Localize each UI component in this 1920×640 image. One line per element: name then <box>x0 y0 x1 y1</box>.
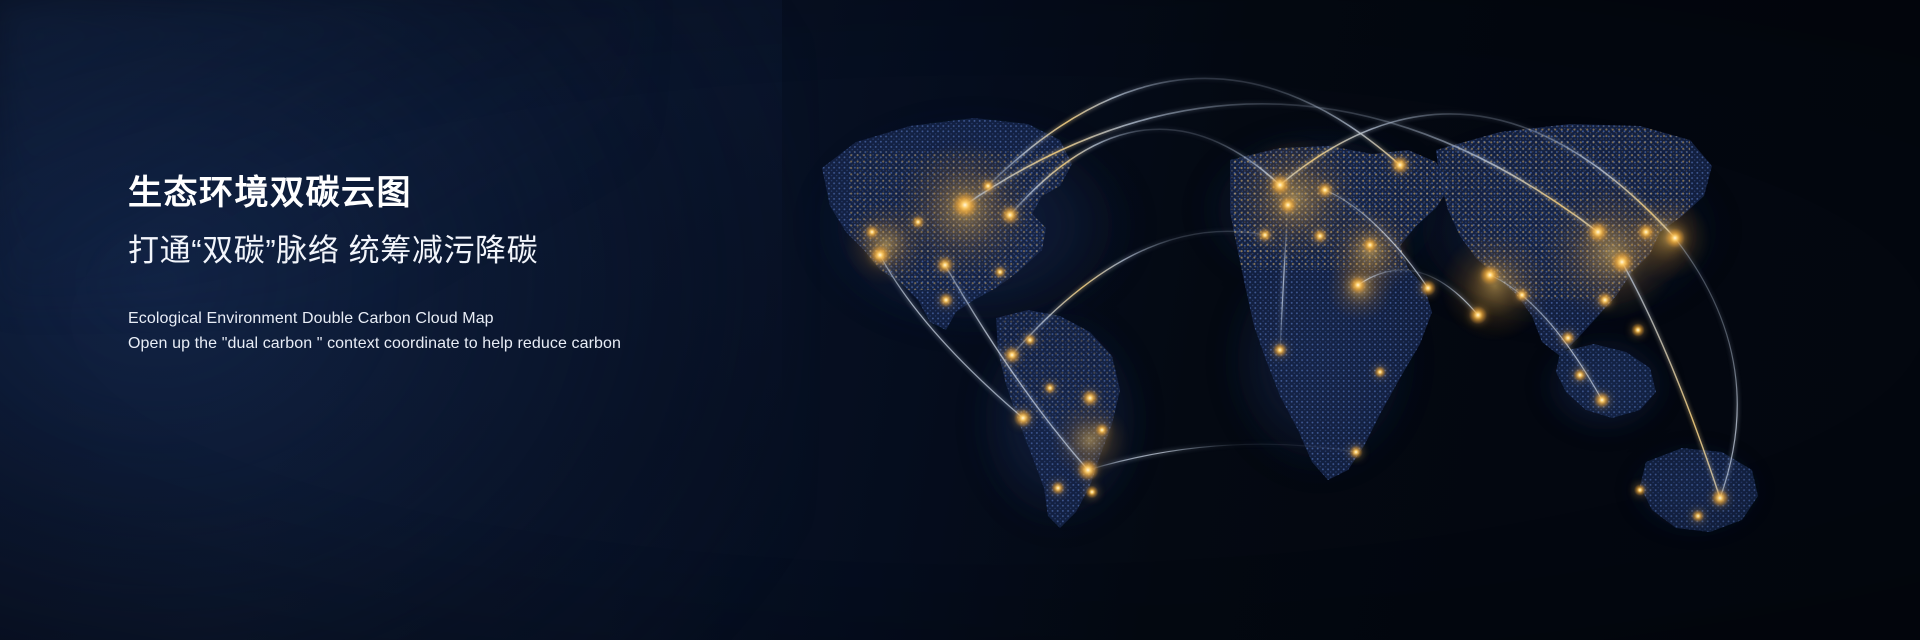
city-node-melbourne <box>1692 510 1705 523</box>
english-subtitle-line-2: Open up the "dual carbon " context coord… <box>128 332 748 357</box>
city-node-perth <box>1634 484 1646 496</box>
city-node-houston <box>937 257 954 274</box>
city-node-rome <box>1313 229 1327 243</box>
city-node-london <box>1270 175 1291 196</box>
city-node-singapore <box>1573 368 1587 382</box>
city-node-istanbul <box>1362 237 1377 252</box>
hero-text-block: 生态环境双碳云图 打通“双碳”脉络 统筹减污降碳 Ecological Envi… <box>128 172 748 356</box>
city-node-berlin <box>1317 182 1333 198</box>
world-map-svg <box>760 0 1920 640</box>
city-node-tokyo <box>1665 228 1685 248</box>
page-title: 生态环境双碳云图 <box>128 172 748 215</box>
city-node-rio <box>1095 423 1109 437</box>
city-node-moscow <box>1391 156 1409 174</box>
city-node-dubai <box>1420 280 1436 296</box>
city-node-shanghai <box>1611 251 1633 273</box>
city-node-chicago <box>952 192 978 218</box>
city-node-paris <box>1279 196 1297 214</box>
city-node-miami <box>994 266 1006 278</box>
city-node-seoul <box>1638 224 1655 241</box>
city-node-caracas <box>1024 334 1037 347</box>
city-node-denver <box>912 216 925 229</box>
city-node-santiago <box>1051 481 1065 495</box>
city-node-bangkok <box>1561 331 1575 345</box>
city-node-cairo <box>1349 276 1367 294</box>
city-node-lagos <box>1273 343 1287 357</box>
city-node-manaus <box>1044 382 1056 394</box>
city-node-johannesburg <box>1349 445 1363 459</box>
city-node-hong-kong <box>1597 292 1613 308</box>
city-node-sao-paulo <box>1077 459 1099 481</box>
city-node-lima <box>1014 409 1032 427</box>
city-node-manila <box>1631 323 1645 337</box>
city-node-nairobi <box>1374 366 1386 378</box>
city-node-sydney <box>1711 489 1729 507</box>
city-node-buenos-aires <box>1086 486 1099 499</box>
world-night-map <box>760 0 1920 640</box>
city-node-los-angeles <box>870 245 890 265</box>
english-subtitle-line-1: Ecological Environment Double Carbon Clo… <box>128 307 748 332</box>
city-node-new-york <box>1001 206 1019 224</box>
city-node-delhi <box>1480 265 1500 285</box>
city-node-mexico-city <box>939 293 953 307</box>
city-node-kolkata <box>1515 288 1529 302</box>
city-node-san-francisco <box>865 225 879 239</box>
city-node-toronto <box>981 179 995 193</box>
city-node-beijing <box>1588 222 1609 243</box>
english-subtitle-block: Ecological Environment Double Carbon Clo… <box>128 307 748 357</box>
city-node-jakarta <box>1594 392 1610 408</box>
city-node-mumbai <box>1469 306 1487 324</box>
hero-banner: 生态环境双碳云图 打通“双碳”脉络 统筹减污降碳 Ecological Envi… <box>0 0 1920 640</box>
page-subtitle: 打通“双碳”脉络 统筹减污降碳 <box>128 231 748 271</box>
city-node-brasilia <box>1082 390 1099 407</box>
city-node-bogota <box>1004 347 1021 364</box>
city-node-madrid <box>1258 228 1272 242</box>
